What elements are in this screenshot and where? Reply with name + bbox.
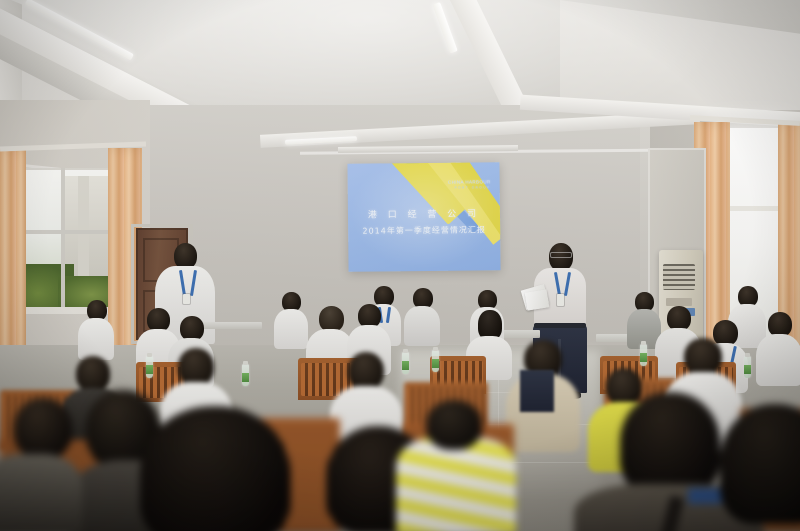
water-bottle[interactable] — [744, 356, 751, 378]
projection-screen: CHINA HARBOUR PORT GROUP 港 口 经 营 公 司 201… — [347, 162, 500, 272]
head — [348, 352, 384, 390]
torso — [404, 306, 440, 346]
water-bottle[interactable] — [242, 364, 249, 386]
slide-logo: CHINA HARBOUR PORT GROUP — [448, 178, 491, 190]
torso — [78, 318, 114, 360]
torso — [396, 438, 516, 531]
id-badge — [183, 294, 190, 304]
person-audience — [274, 292, 308, 344]
legs — [520, 370, 554, 412]
torso — [0, 454, 82, 531]
bottle-label — [744, 365, 751, 374]
bottle-cap — [641, 341, 646, 345]
window-mullion — [722, 206, 784, 211]
person-audience — [78, 300, 114, 354]
bottle-cap — [433, 347, 438, 351]
torso — [274, 309, 308, 349]
bottle-label — [146, 365, 153, 374]
bottle-label — [402, 361, 409, 370]
ac-vent — [663, 264, 695, 290]
glasses-icon — [550, 252, 572, 258]
head — [76, 356, 110, 392]
bottle-cap — [745, 353, 750, 357]
head — [426, 400, 482, 450]
bottle-cap — [403, 349, 408, 353]
water-bottle[interactable] — [402, 352, 409, 374]
person-audience — [404, 288, 440, 342]
person-foreground — [0, 398, 76, 528]
head — [684, 338, 722, 376]
window-mullion — [61, 168, 65, 313]
head — [140, 406, 290, 531]
bottle-label — [640, 353, 647, 362]
slide-subtitle: 2014年第一季度经营情况汇报 — [348, 224, 500, 237]
bottle-cap — [147, 353, 152, 357]
water-bottle[interactable] — [432, 350, 439, 372]
id-badge — [557, 294, 564, 306]
belt — [534, 323, 586, 328]
bottle-label — [432, 359, 439, 368]
person-foreground — [140, 406, 320, 531]
exterior-building — [64, 176, 114, 276]
bottle-label — [242, 373, 249, 382]
water-bottle[interactable] — [640, 344, 647, 366]
torso — [756, 334, 800, 386]
person-foreground-striped — [396, 400, 526, 531]
exterior-column — [78, 176, 89, 276]
person-foreground — [690, 404, 800, 531]
window-left — [14, 168, 114, 313]
head — [178, 348, 214, 386]
person-audience — [756, 312, 800, 380]
curtain-left — [0, 148, 26, 368]
meeting-room-photo: CHINA HARBOUR PORT GROUP 港 口 经 营 公 司 201… — [0, 0, 800, 531]
head — [720, 404, 800, 524]
head — [14, 398, 72, 460]
slide-logo-subtext: PORT GROUP — [448, 185, 491, 190]
slide-title: 港 口 经 营 公 司 — [348, 206, 500, 221]
window-mullion — [14, 230, 114, 234]
papers — [525, 289, 550, 310]
water-bottle[interactable] — [146, 356, 153, 378]
ac-control-panel[interactable] — [666, 298, 692, 306]
bottle-cap — [243, 361, 248, 365]
